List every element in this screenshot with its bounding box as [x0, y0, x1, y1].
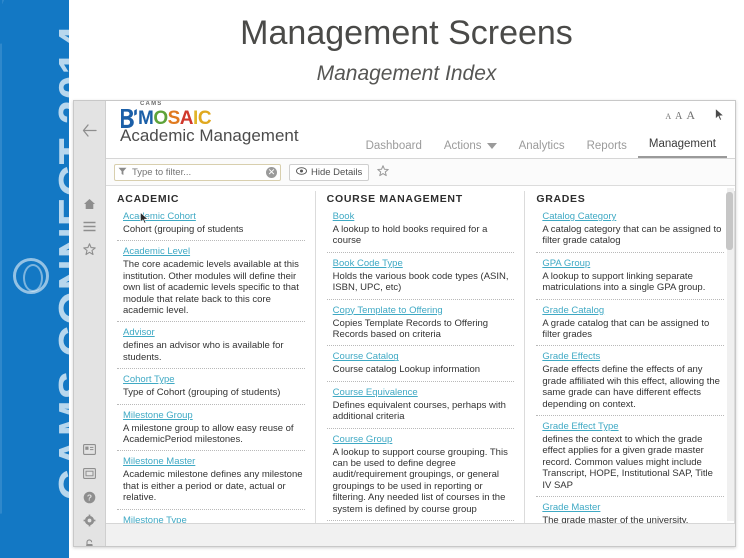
- entry-link[interactable]: Academic Cohort: [123, 211, 305, 222]
- app-screenshot-panel: ?: [73, 100, 736, 547]
- entry-link[interactable]: Grade Catalog: [542, 305, 724, 316]
- app-body: CAMS MOSAIC Academic Management AAA Dash…: [106, 101, 735, 546]
- list-item: Grade Effects Grade effects define the e…: [536, 351, 724, 416]
- font-size-small-button[interactable]: A: [665, 112, 675, 121]
- list-item: Cohort Type Type of Cohort (grouping of …: [117, 374, 305, 404]
- mouse-cursor-icon: [715, 108, 725, 121]
- cams-logo-text: CAMS: [140, 101, 162, 107]
- gear-icon[interactable]: [74, 513, 105, 527]
- hide-details-button[interactable]: Hide Details: [289, 164, 369, 181]
- menu-icon[interactable]: [74, 219, 105, 233]
- font-size-medium-button[interactable]: A: [675, 111, 686, 122]
- entry-link[interactable]: Grade Effects: [542, 351, 724, 362]
- page-subtitle: Management Index: [69, 62, 744, 86]
- list-item: Course Catalog Course catalog Lookup inf…: [327, 351, 515, 381]
- nav-label-dashboard: Dashboard: [366, 140, 422, 152]
- list-item: Milestone Type A AcademicPeriod mileston…: [117, 515, 305, 523]
- lock-icon[interactable]: [74, 537, 105, 547]
- list-item: Academic Cohort Cohort (grouping of stud…: [117, 211, 305, 241]
- slide-canvas: CAMS CONNECT 2014 Management Screens Man…: [0, 0, 744, 558]
- list-item: Advisor defines an advisor who is availa…: [117, 327, 305, 369]
- back-arrow-icon[interactable]: [74, 123, 105, 137]
- mail-icon[interactable]: [74, 466, 105, 480]
- nav-item-reports[interactable]: Reports: [576, 136, 638, 158]
- entry-description: A lookup to support course grouping. Thi…: [333, 447, 515, 515]
- list-item: Milestone Group A milestone group to all…: [117, 410, 305, 452]
- search-input[interactable]: [130, 166, 266, 179]
- entry-link[interactable]: Advisor: [123, 327, 305, 338]
- entry-description: Cohort (grouping of students: [123, 224, 305, 235]
- list-item: Catalog Category A catalog category that…: [536, 211, 724, 253]
- clear-filter-icon[interactable]: ✕: [266, 167, 277, 178]
- nav-label-reports: Reports: [587, 140, 627, 152]
- entry-description: defines an advisor who is available for …: [123, 340, 305, 363]
- nav-label-management: Management: [649, 138, 716, 150]
- app-page-title: Academic Management: [120, 126, 299, 146]
- entry-link[interactable]: Grade Effect Type: [542, 421, 724, 432]
- entry-description: A milestone group to allow easy reuse of…: [123, 423, 305, 446]
- list-item: Academic Level The core academic levels …: [117, 246, 305, 322]
- entry-link[interactable]: Milestone Master: [123, 456, 305, 467]
- nav-label-actions: Actions: [444, 140, 482, 152]
- column-academic: ACADEMIC Academic Cohort Cohort (groupin…: [106, 191, 316, 523]
- nav-item-management[interactable]: Management: [638, 134, 727, 158]
- eye-icon: [296, 167, 307, 178]
- entry-link[interactable]: Catalog Category: [542, 211, 724, 222]
- app-top-navigation: Dashboard Actions Analytics Reports Mana…: [355, 134, 727, 158]
- entry-link[interactable]: Academic Level: [123, 246, 305, 257]
- entry-description: The core academic levels available at th…: [123, 259, 305, 316]
- entry-description: Defines equivalent courses, perhaps with…: [333, 400, 515, 423]
- column-title-course-management: COURSE MANAGEMENT: [327, 193, 515, 205]
- help-icon[interactable]: ?: [74, 490, 105, 504]
- font-size-large-button[interactable]: A: [686, 108, 699, 122]
- entry-description: Holds the various book code types (ASIN,…: [333, 271, 515, 294]
- page-title: Management Screens: [69, 14, 744, 53]
- list-item: Course Equivalence Defines equivalent co…: [327, 387, 515, 429]
- entry-description: Academic milestone defines any milestone…: [123, 469, 305, 503]
- vertical-scrollbar-thumb[interactable]: [726, 192, 733, 250]
- chevron-down-icon: [487, 143, 497, 149]
- entry-link[interactable]: Book Code Type: [333, 258, 515, 269]
- entry-description: Type of Cohort (grouping of students): [123, 387, 305, 398]
- list-item: Grade Effect Type defines the context to…: [536, 421, 724, 497]
- list-item: Copy Template to Offering Copies Templat…: [327, 305, 515, 347]
- list-item: Course Group A lookup to support course …: [327, 434, 515, 521]
- list-item: Grade Catalog A grade catalog that can b…: [536, 305, 724, 347]
- nav-label-analytics: Analytics: [519, 140, 565, 152]
- app-left-rail: ?: [74, 101, 106, 546]
- entry-link[interactable]: Copy Template to Offering: [333, 305, 515, 316]
- list-item: Book Code Type Holds the various book co…: [327, 258, 515, 300]
- entry-description: Copies Template Records to Offering Reco…: [333, 318, 515, 341]
- entry-link[interactable]: Book: [333, 211, 515, 222]
- list-item: Milestone Master Academic milestone defi…: [117, 456, 305, 509]
- list-item: Grade Master The grade master of the uni…: [536, 502, 724, 523]
- globe-icon: [13, 258, 49, 294]
- nav-item-actions[interactable]: Actions: [433, 136, 508, 158]
- hide-details-label: Hide Details: [311, 167, 362, 178]
- entry-description: A lookup to hold books required for a co…: [333, 224, 515, 247]
- entry-link[interactable]: Course Group: [333, 434, 515, 445]
- svg-text:?: ?: [87, 493, 92, 503]
- list-item: Book A lookup to hold books required for…: [327, 211, 515, 253]
- entry-description: Course catalog Lookup information: [333, 364, 515, 375]
- band-title: CAMS CONNECT 2014: [51, 3, 70, 523]
- entry-description: A catalog category that can be assigned …: [542, 224, 724, 247]
- entry-link[interactable]: Grade Master: [542, 502, 724, 513]
- nav-item-dashboard[interactable]: Dashboard: [355, 136, 433, 158]
- left-brand-band: CAMS CONNECT 2014: [0, 0, 69, 558]
- entry-link[interactable]: Course Equivalence: [333, 387, 515, 398]
- column-title-academic: ACADEMIC: [117, 193, 305, 205]
- entry-description: A grade catalog that can be assigned to …: [542, 318, 724, 341]
- app-toolbar: ✕ Hide Details: [106, 159, 735, 186]
- entry-link[interactable]: GPA Group: [542, 258, 724, 269]
- entry-description: The grade master of the university.: [542, 515, 724, 523]
- vertical-scrollbar-track[interactable]: [727, 188, 734, 521]
- nav-item-analytics[interactable]: Analytics: [508, 136, 576, 158]
- entry-link[interactable]: Milestone Group: [123, 410, 305, 421]
- mosaic-logo[interactable]: CAMS MOSAIC: [120, 106, 211, 128]
- entry-description: A lookup to support linking separate mat…: [542, 271, 724, 294]
- column-title-grades: GRADES: [536, 193, 724, 205]
- font-size-controls[interactable]: AAA: [665, 106, 699, 124]
- entry-link[interactable]: Cohort Type: [123, 374, 305, 385]
- filter-funnel-icon: [118, 167, 127, 178]
- entry-link[interactable]: Course Catalog: [333, 351, 515, 362]
- home-icon[interactable]: [74, 196, 105, 210]
- column-grades: GRADES Catalog Category A catalog catego…: [525, 191, 735, 523]
- list-item: GPA Group A lookup to support linking se…: [536, 258, 724, 300]
- app-footer-bar: [106, 523, 735, 546]
- management-index-columns: ACADEMIC Academic Cohort Cohort (groupin…: [106, 186, 735, 523]
- star-icon[interactable]: [74, 242, 105, 256]
- entry-link[interactable]: Milestone Type: [123, 515, 305, 523]
- entry-description: defines the context to which the grade e…: [542, 434, 724, 491]
- favorite-star-icon[interactable]: [377, 165, 389, 179]
- app-header: CAMS MOSAIC Academic Management AAA Dash…: [106, 101, 735, 159]
- id-card-icon[interactable]: [74, 442, 105, 456]
- filter-box[interactable]: ✕: [114, 164, 281, 181]
- entry-description: Grade effects define the effects of any …: [542, 364, 724, 410]
- column-course-management: COURSE MANAGEMENT Book A lookup to hold …: [316, 191, 526, 523]
